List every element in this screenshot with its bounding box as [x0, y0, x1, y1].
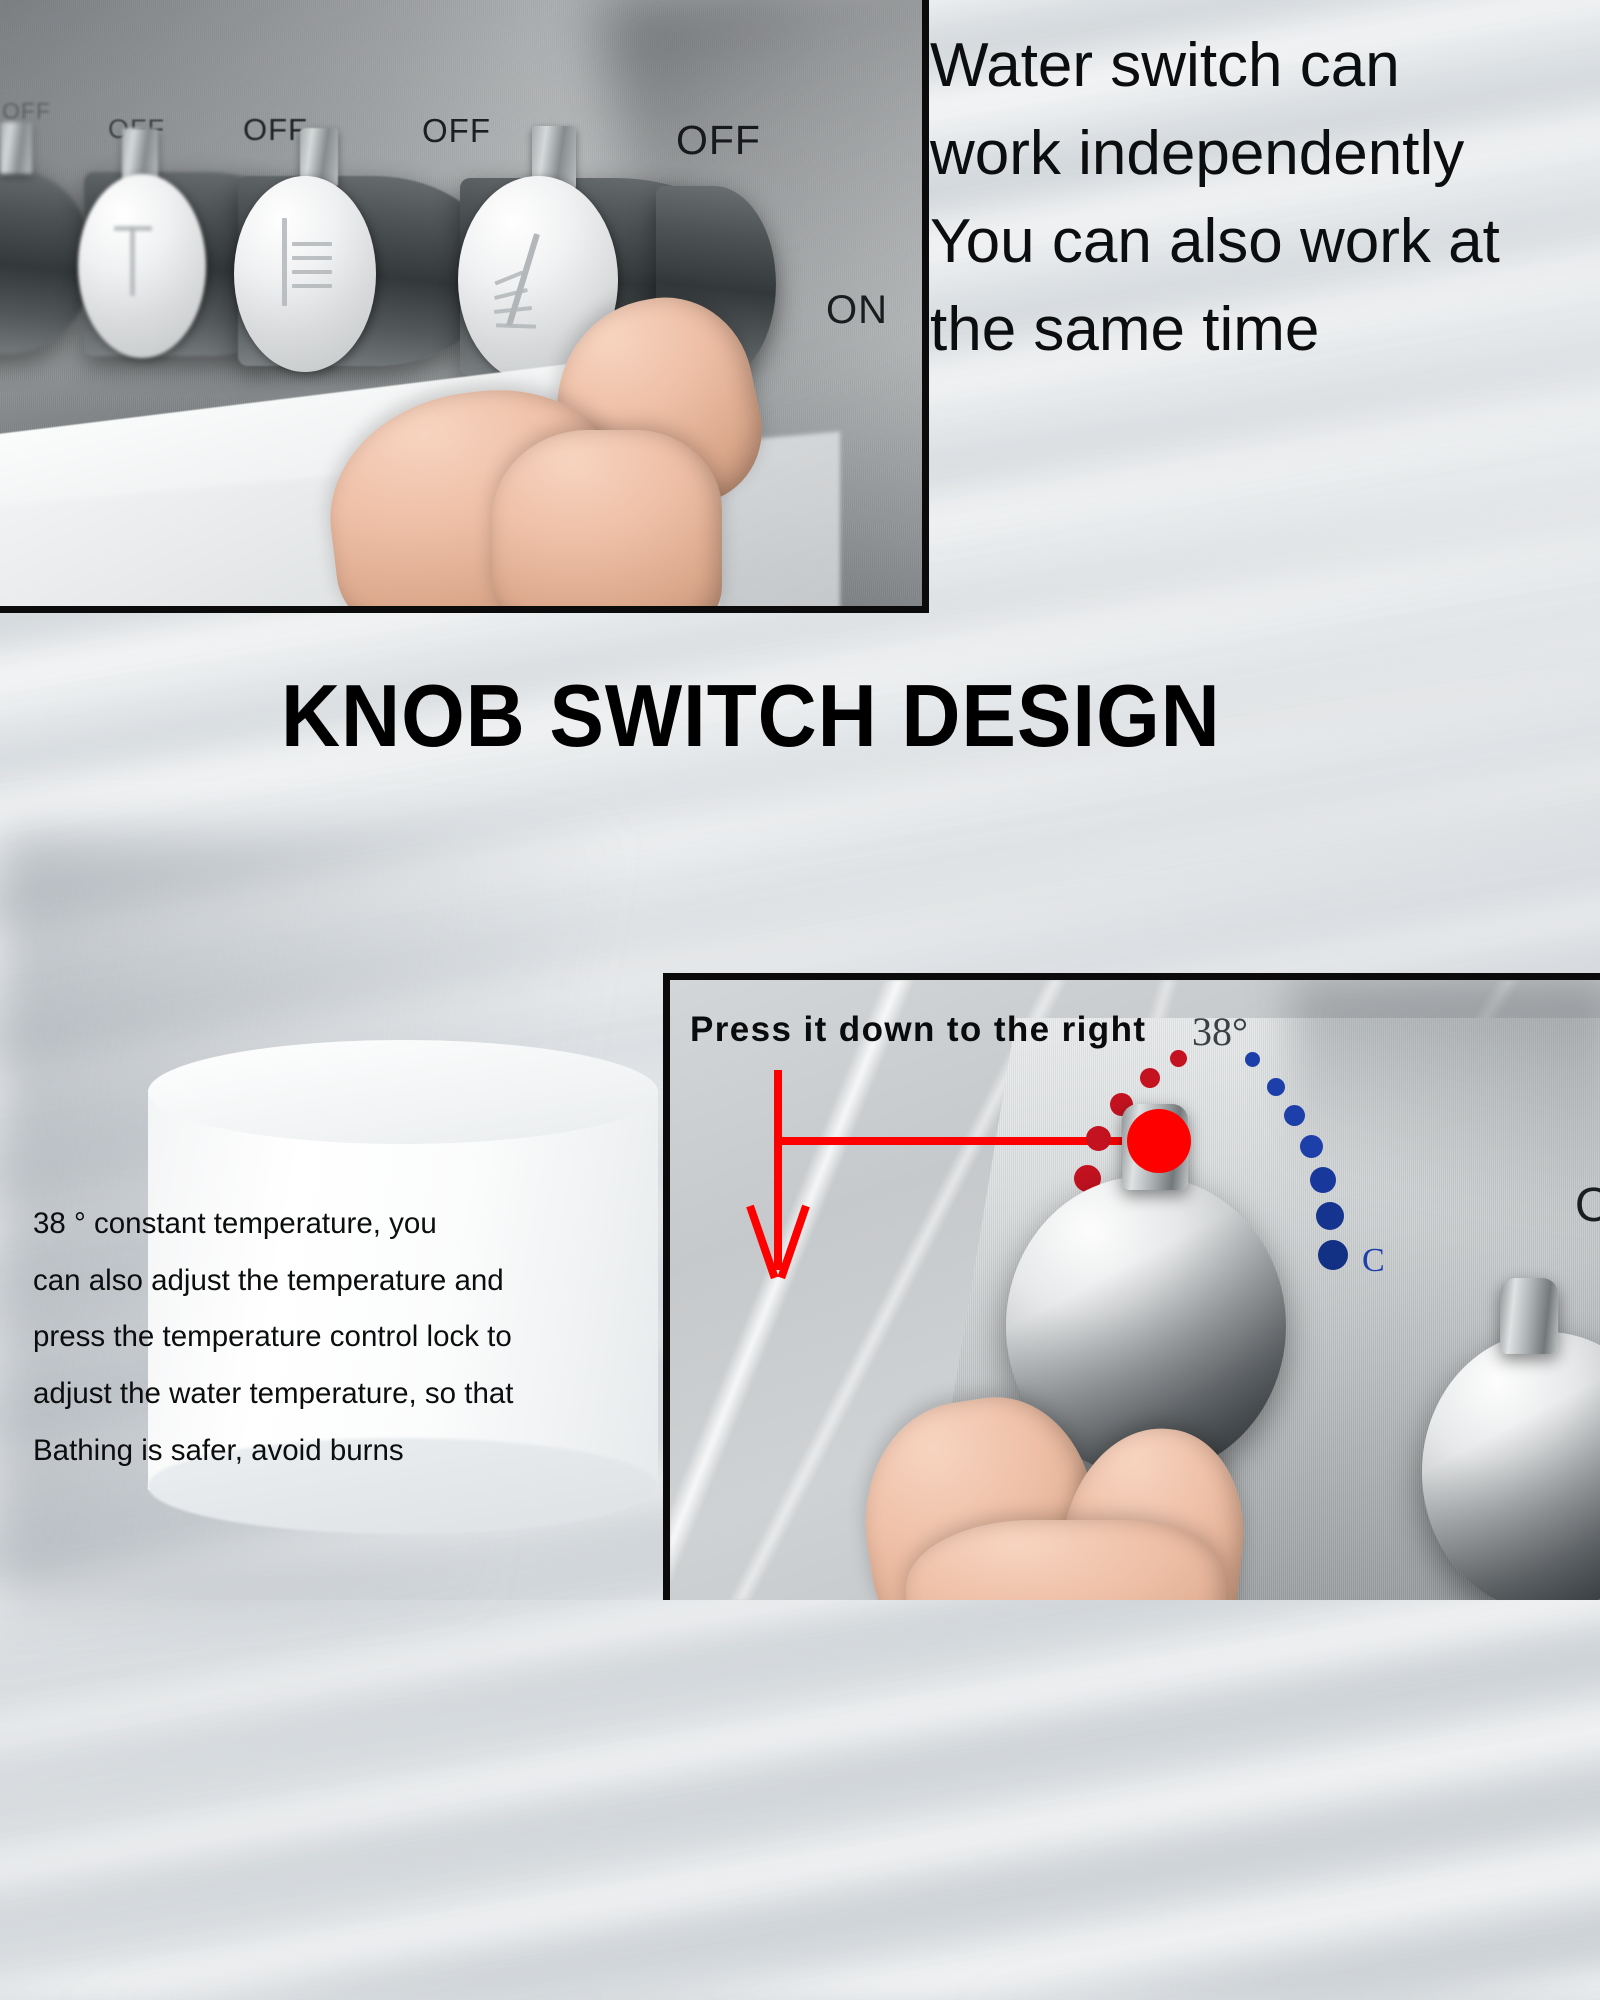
knob-3-face: [234, 176, 376, 372]
knob-label-off-5: OFF: [676, 117, 761, 164]
knob-4-engraved-spray-4: [496, 323, 536, 328]
cold-dot-2: [1267, 1078, 1285, 1096]
knob-3-engraved-spray-4: [292, 284, 332, 288]
knob-2-face: [78, 174, 206, 358]
page-title: KNOB SWITCH DESIGN: [281, 672, 1248, 760]
knob-label-off-3: OFF: [243, 112, 308, 148]
podium-top-ellipse: [148, 1040, 658, 1144]
knob-2-engraved-icon: [130, 226, 135, 296]
press-target-red-dot: [1127, 1109, 1191, 1173]
cold-dot-7: [1318, 1240, 1348, 1270]
faceplate-shadow: [1290, 980, 1600, 1280]
temperature-38-label: 38°: [1192, 1008, 1248, 1055]
knob-4-engraved-shower-stem: [506, 233, 540, 327]
cold-dot-1: [1245, 1052, 1260, 1067]
knob-4-engraved-spray-2: [494, 288, 528, 300]
knob-label-off-1: OFF: [2, 98, 51, 125]
paragraph-line-2: can also adjust the temperature and: [33, 1253, 673, 1310]
cold-dot-5: [1310, 1167, 1336, 1193]
knob-2-engraved-icon-bar: [114, 226, 152, 231]
paragraph-line-1: 38 ° constant temperature, you: [33, 1196, 673, 1253]
intro-line-4: the same time: [930, 286, 1600, 374]
knob-1-lock-pin: [0, 122, 32, 174]
temperature-description-paragraph: 38 ° constant temperature, you can also …: [33, 1196, 673, 1479]
paragraph-line-5: Bathing is safer, avoid burns: [33, 1423, 673, 1480]
secondary-knob-lock-pin: [1500, 1278, 1558, 1354]
intro-line-1: Water switch can: [930, 22, 1600, 110]
hand-knuckle-top: [492, 430, 722, 613]
knob-label-on: ON: [826, 288, 888, 333]
hot-dot-1: [1170, 1050, 1187, 1067]
cold-dot-6: [1316, 1202, 1344, 1230]
intro-line-2: work independently: [930, 110, 1600, 198]
knob-label-off-4: OFF: [422, 112, 491, 150]
knob-3-engraved-spray-2: [292, 256, 332, 260]
paragraph-line-3: press the temperature control lock to: [33, 1309, 673, 1366]
knob-3-engraved-shower-stem: [282, 218, 287, 306]
press-instruction-label: Press it down to the right: [690, 1010, 1146, 1050]
photo-thermostat-knob: Press it down to the right 38° H C O: [663, 973, 1600, 1600]
hot-dot-2: [1140, 1068, 1160, 1088]
photo-knob-row: OFF OFF OFF OFF OFF ON: [0, 0, 929, 613]
cold-c-label: C: [1362, 1242, 1385, 1280]
cold-dot-3: [1284, 1105, 1305, 1126]
knob-3-engraved-spray-3: [292, 270, 332, 274]
cold-dot-4: [1300, 1135, 1323, 1158]
off-letter-clipped: O: [1575, 1178, 1600, 1233]
knob-3-engraved-spray-1: [292, 242, 332, 246]
intro-line-3: You can also work at: [930, 198, 1600, 286]
paragraph-line-4: adjust the water temperature, so that: [33, 1366, 673, 1423]
intro-paragraph: Water switch can work independently You …: [930, 22, 1600, 374]
arrow-vertical-shaft: [774, 1070, 782, 1270]
hot-dot-4: [1086, 1126, 1111, 1151]
